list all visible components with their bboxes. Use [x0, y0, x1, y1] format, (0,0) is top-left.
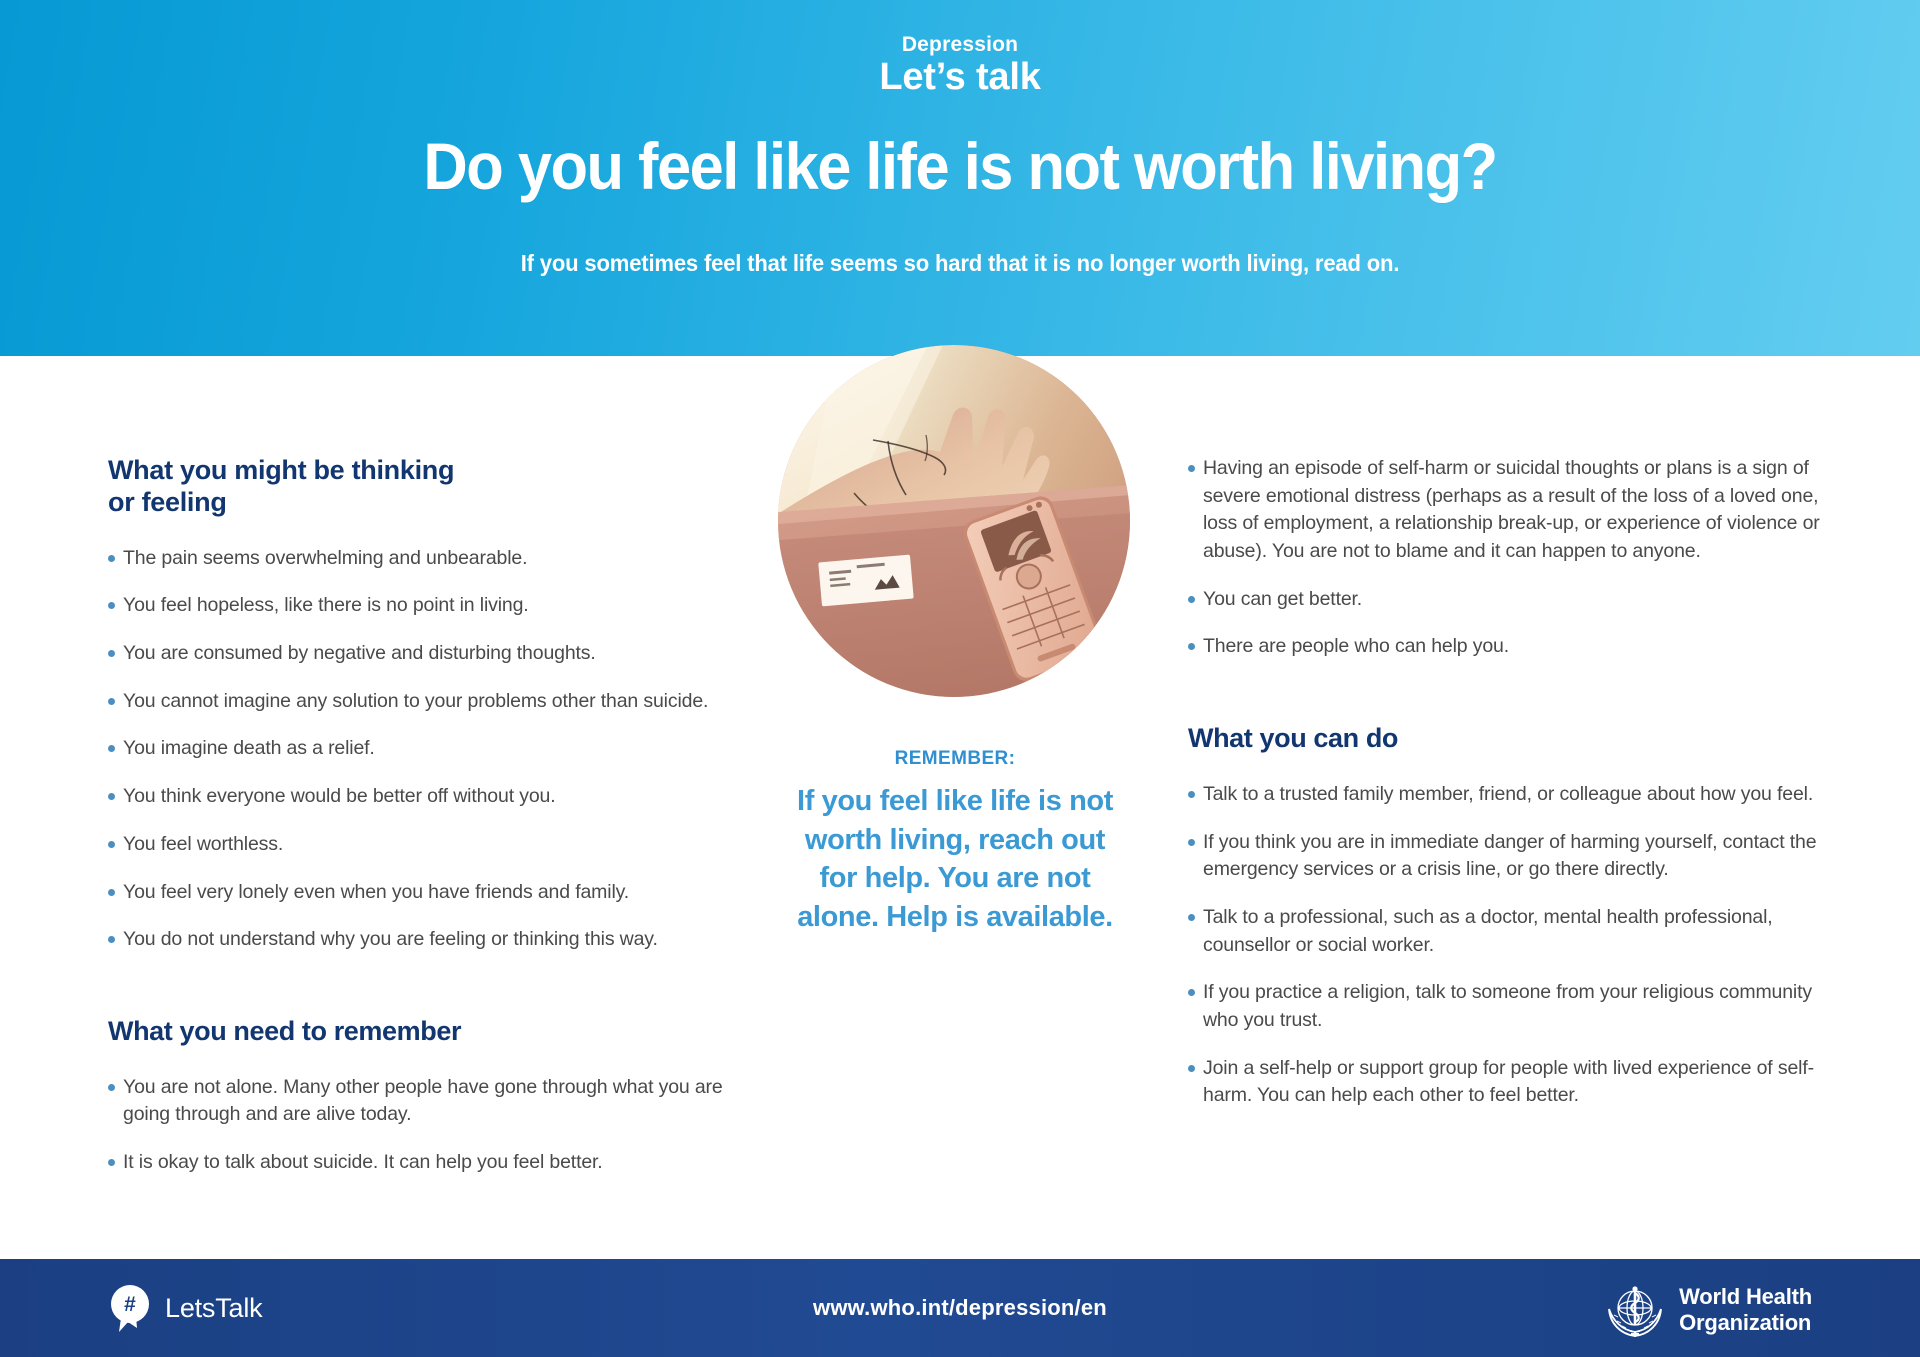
list-item: You are not alone. Many other people hav… [108, 1074, 768, 1129]
illustration-artwork [778, 345, 1130, 697]
heading-thinking-text: What you might be thinking or feeling [108, 455, 454, 517]
list-facts-about-self-harm: Having an episode of self-harm or suicid… [1188, 455, 1848, 661]
remember-label: REMEMBER: [790, 748, 1120, 770]
list-item: You do not understand why you are feelin… [108, 926, 768, 954]
list-item: You can get better. [1188, 586, 1848, 614]
list-item: If you practice a religion, talk to some… [1188, 979, 1848, 1034]
list-item: You think everyone would be better off w… [108, 783, 768, 811]
brand-campaign-slogan: Let’s talk [0, 56, 1920, 99]
who-logo: World Health Organization [1604, 1279, 1812, 1341]
brand-campaign-topic: Depression [0, 34, 1920, 56]
page-title: Do you feel like life is not worth livin… [67, 133, 1853, 199]
list-item: Talk to a professional, such as a doctor… [1188, 904, 1848, 959]
brand-lockup: Depression Let’s talk [0, 34, 1920, 99]
who-organization-name: World Health Organization [1679, 1284, 1812, 1335]
remember-callout: REMEMBER: If you feel like life is not w… [790, 748, 1120, 936]
list-item: You imagine death as a relief. [108, 735, 768, 763]
list-item: There are people who can help you. [1188, 633, 1848, 661]
list-item: You feel very lonely even when you have … [108, 879, 768, 907]
list-item: If you think you are in immediate danger… [1188, 829, 1848, 884]
list-what-you-can-do: Talk to a trusted family member, friend,… [1188, 781, 1848, 1110]
list-item: You are consumed by negative and disturb… [108, 640, 768, 668]
left-column: What you might be thinking or feeling Th… [108, 455, 768, 1177]
right-column: Having an episode of self-harm or suicid… [1188, 455, 1848, 1110]
remember-quote: If you feel like life is not worth livin… [790, 782, 1120, 936]
who-name-line1: World Health [1679, 1284, 1812, 1310]
list-need-to-remember: You are not alone. Many other people hav… [108, 1074, 768, 1177]
heading-what-you-can-do: What you can do [1188, 723, 1848, 755]
heading-what-you-need-to-remember: What you need to remember [108, 1016, 768, 1048]
section-spacer [108, 954, 768, 1016]
list-item: You feel hopeless, like there is no poin… [108, 592, 768, 620]
page-subtitle: If you sometimes feel that life seems so… [38, 250, 1881, 277]
section-spacer [1188, 661, 1848, 723]
list-item: You feel worthless. [108, 831, 768, 859]
hand-and-phone-illustration [778, 345, 1130, 697]
list-thinking-or-feeling: The pain seems overwhelming and unbearab… [108, 545, 768, 954]
list-item: The pain seems overwhelming and unbearab… [108, 545, 768, 573]
footer-band: # LetsTalk www.who.int/depression/en [0, 1259, 1920, 1357]
header-band: Depression Let’s talk Do you feel like l… [0, 0, 1920, 356]
list-item: Having an episode of self-harm or suicid… [1188, 455, 1848, 566]
heading-what-you-might-be-thinking: What you might be thinking or feeling [108, 455, 768, 519]
list-item: You cannot imagine any solution to your … [108, 688, 768, 716]
list-item: It is okay to talk about suicide. It can… [108, 1149, 768, 1177]
who-name-line2: Organization [1679, 1310, 1812, 1336]
list-item: Join a self-help or support group for pe… [1188, 1055, 1848, 1110]
list-item: Talk to a trusted family member, friend,… [1188, 781, 1848, 809]
infographic-poster: Depression Let’s talk Do you feel like l… [0, 0, 1920, 1357]
who-emblem-icon [1604, 1279, 1666, 1341]
